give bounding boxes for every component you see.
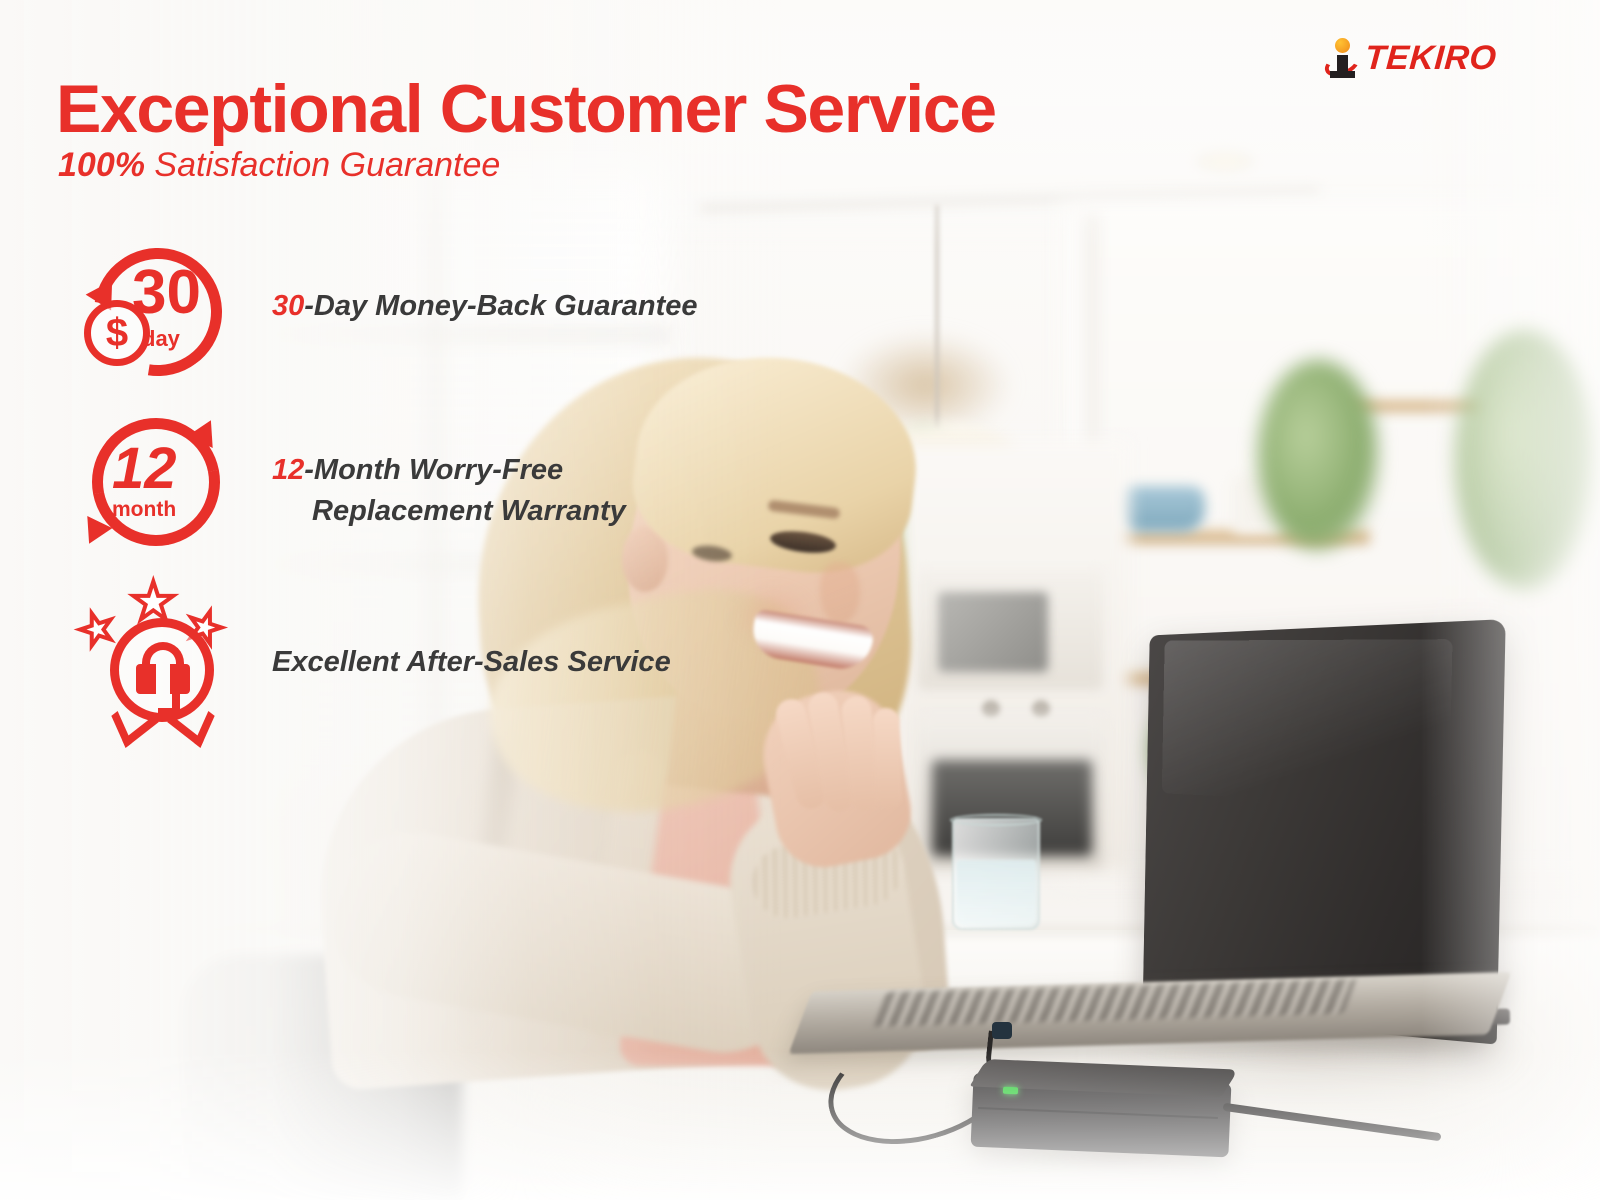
- feature-item-after-sales: ★ ★ ★: [76, 580, 251, 730]
- logo-stem-icon: [1337, 55, 1348, 72]
- logo-base-icon: [1330, 71, 1355, 78]
- logo-dot-icon: [1335, 38, 1350, 53]
- badge-number: 30: [132, 262, 201, 324]
- feature-text: -Month Worry-Free: [304, 454, 563, 486]
- feature-number: 30: [272, 290, 304, 322]
- badge-unit: day: [142, 326, 180, 352]
- after-sales-award-headset-icon: ★ ★ ★: [76, 580, 251, 730]
- thirty-day-money-back-icon: $ 30 day: [76, 242, 251, 392]
- feature-label-money-back: 30-Day Money-Back Guarantee: [272, 286, 698, 327]
- feature-text: -Day Money-Back Guarantee: [304, 290, 697, 322]
- feature-item-money-back: $ 30 day: [76, 242, 251, 392]
- headset-earcup-icon: [170, 664, 190, 694]
- subtitle-percent: 100%: [58, 146, 145, 184]
- feature-label-after-sales: Excellent After-Sales Service: [272, 642, 671, 683]
- medal-circle-icon: [110, 618, 214, 722]
- feature-number: 12: [272, 454, 304, 486]
- banner-content: TEKIRO Exceptional Customer Service 100%…: [0, 0, 1600, 1200]
- feature-label-warranty: 12-Month Worry-Free Replacement Warranty: [272, 450, 626, 532]
- tekiro-i-mark-icon: [1324, 38, 1360, 78]
- feature-text-line2: Replacement Warranty: [272, 491, 626, 532]
- promotional-banner: TEKIRO Exceptional Customer Service 100%…: [0, 0, 1600, 1200]
- feature-item-warranty: 12 month: [76, 410, 251, 560]
- page-title: Exceptional Customer Service: [56, 70, 996, 148]
- badge-unit: month: [112, 498, 176, 522]
- subtitle: 100% Satisfaction Guarantee: [58, 146, 500, 185]
- feature-text: Excellent After-Sales Service: [272, 646, 671, 678]
- subtitle-rest: Satisfaction Guarantee: [145, 146, 500, 184]
- brand-logo: TEKIRO: [1324, 38, 1496, 78]
- badge-number: 12: [112, 440, 177, 498]
- brand-name: TEKIRO: [1363, 39, 1497, 78]
- headset-mic-tip-icon: [158, 708, 180, 716]
- twelve-month-warranty-icon: 12 month: [76, 410, 251, 560]
- headset-earcup-icon: [136, 664, 156, 694]
